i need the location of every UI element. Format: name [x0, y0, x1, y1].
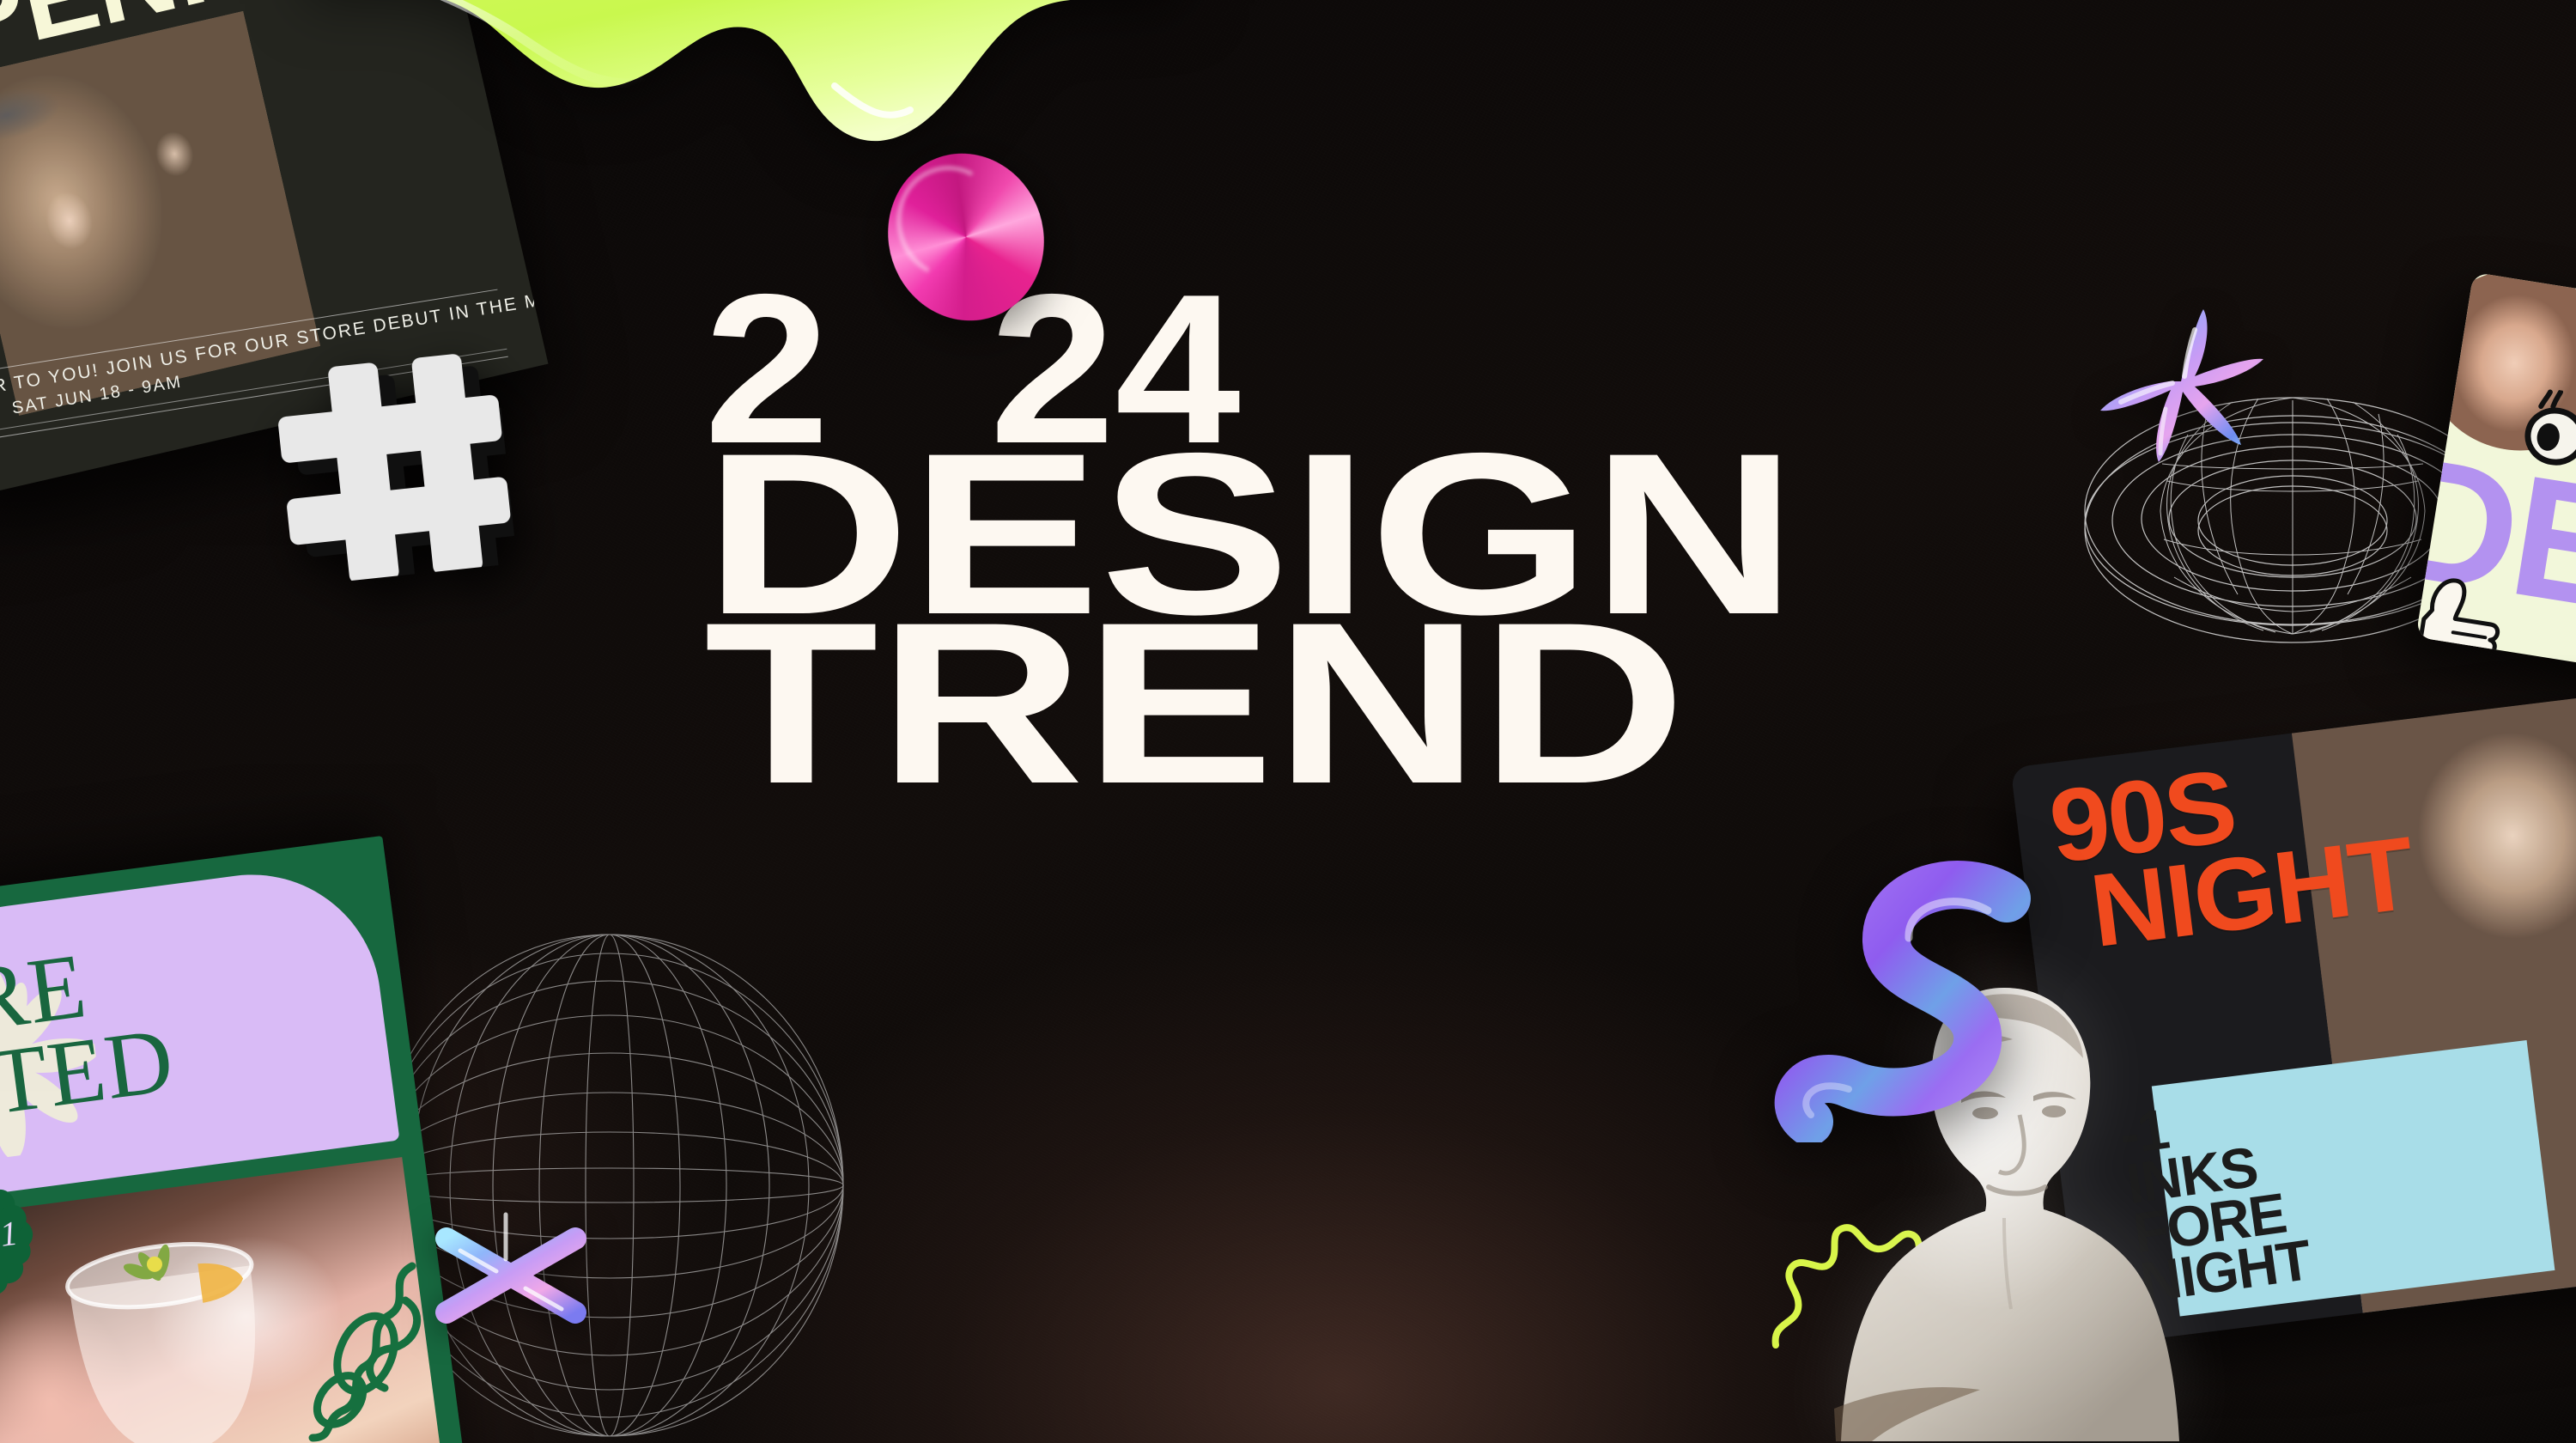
hashtag-icon [273, 350, 518, 587]
purple-tube-s-icon [1704, 859, 2048, 1142]
six-point-holographic-star-icon [421, 1185, 601, 1366]
headline-trend-text: TREND [704, 574, 1686, 831]
lime-slime-blob [309, 0, 1185, 198]
page-title: 224 DESIGN TREND [704, 283, 1975, 795]
90s-promo-panel: -1 INKS FORE NIGHT [2152, 1040, 2555, 1317]
poster-canvas: OPENING G CLOSER TO YOU! JOIN US FOR OUR… [0, 0, 2576, 1443]
headline-line-trends: TREND [704, 611, 2280, 795]
cocktail-glass-illustration [25, 1208, 314, 1443]
four-point-holographic-star-icon [2095, 301, 2267, 464]
invited-headline: OU'RE NVITED [0, 898, 400, 1148]
invited-lilac-panel: OU'RE NVITED [0, 859, 400, 1203]
